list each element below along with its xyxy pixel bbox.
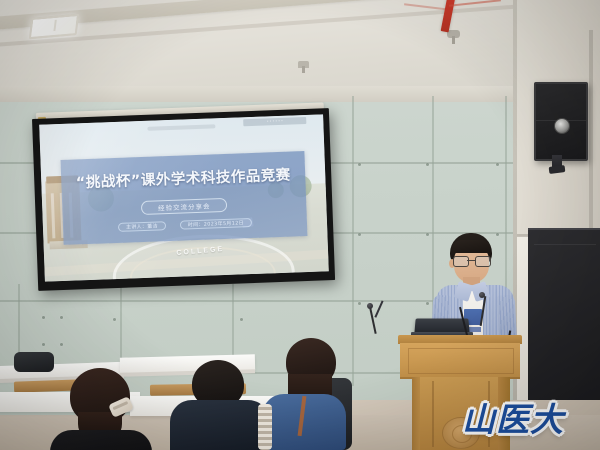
slide-bg-column	[51, 193, 56, 238]
podium-front-inset	[408, 348, 514, 374]
microphone-icon-left	[367, 303, 373, 309]
glasses-bridge	[467, 260, 475, 261]
wall-fastener	[358, 233, 361, 236]
wall-fastener	[358, 302, 361, 305]
wall-fastener	[426, 302, 429, 305]
loudspeaker-box	[534, 82, 588, 161]
audience-member-2	[172, 360, 272, 450]
audience-1-body	[50, 430, 152, 450]
slide-tag-row: 主讲人：董洁 时间：2023年5月12日	[63, 216, 307, 234]
speaker-mount-bracket	[552, 155, 562, 171]
glasses-icon	[453, 256, 490, 265]
slide-tag-presenter: 主讲人：董洁	[118, 221, 166, 232]
glasses-lens-right	[475, 256, 491, 267]
ceiling-mount-bracket-2	[447, 30, 460, 38]
wall-fastener	[60, 343, 63, 346]
lecture-room-photo: COLLEGE “挑战杯”课外学术科技作品竞赛 经验交流分享会 主讲人：董洁 时…	[0, 0, 600, 450]
audience-3-sleeve	[258, 404, 272, 450]
wall-top-strip	[0, 86, 600, 102]
ceiling-seam	[0, 0, 600, 48]
podium-groove-left	[432, 381, 434, 447]
audience-member-1	[46, 368, 156, 450]
slide-tag-date: 时间：2023年5月12日	[180, 218, 252, 230]
slide-subtitle-pill: 经验交流分享会	[141, 198, 228, 215]
wall-fastener	[358, 163, 361, 166]
wall-fastener	[60, 316, 63, 319]
audience-2-body	[170, 400, 270, 450]
slide-content-panel: “挑战杯”课外学术科技作品竞赛 经验交流分享会 主讲人：董洁 时间：2023年5…	[60, 151, 307, 245]
ceiling-light-icon	[29, 14, 79, 39]
presenter-hair-front	[452, 240, 491, 253]
audience-member-3	[262, 338, 354, 450]
wall-fastener	[426, 163, 429, 166]
projected-slide: COLLEGE “挑战杯”课外学术科技作品竞赛 经验交流分享会 主讲人：董洁 时…	[39, 114, 329, 281]
wall-fastener	[113, 318, 116, 321]
wall-fastener	[240, 318, 243, 321]
slide-title: “挑战杯”课外学术科技作品竞赛	[61, 163, 306, 193]
wall-fastener	[496, 163, 499, 166]
wall-fastener	[426, 233, 429, 236]
speaker-cone-icon	[554, 118, 570, 134]
wall-fastener	[42, 316, 45, 319]
podium-front-panel	[400, 343, 520, 379]
microphone-icon-right	[479, 292, 485, 298]
ceiling	[0, 0, 600, 96]
dark-cabinet-seam	[534, 244, 596, 245]
projection-screen: COLLEGE “挑战杯”课外学术科技作品竞赛 经验交流分享会 主讲人：董洁 时…	[32, 108, 335, 291]
glasses-lens-left	[453, 256, 469, 267]
ceiling-mount-bracket	[298, 61, 309, 68]
watermark-logo: 山医大	[462, 398, 592, 442]
wall-fastener	[42, 343, 45, 346]
